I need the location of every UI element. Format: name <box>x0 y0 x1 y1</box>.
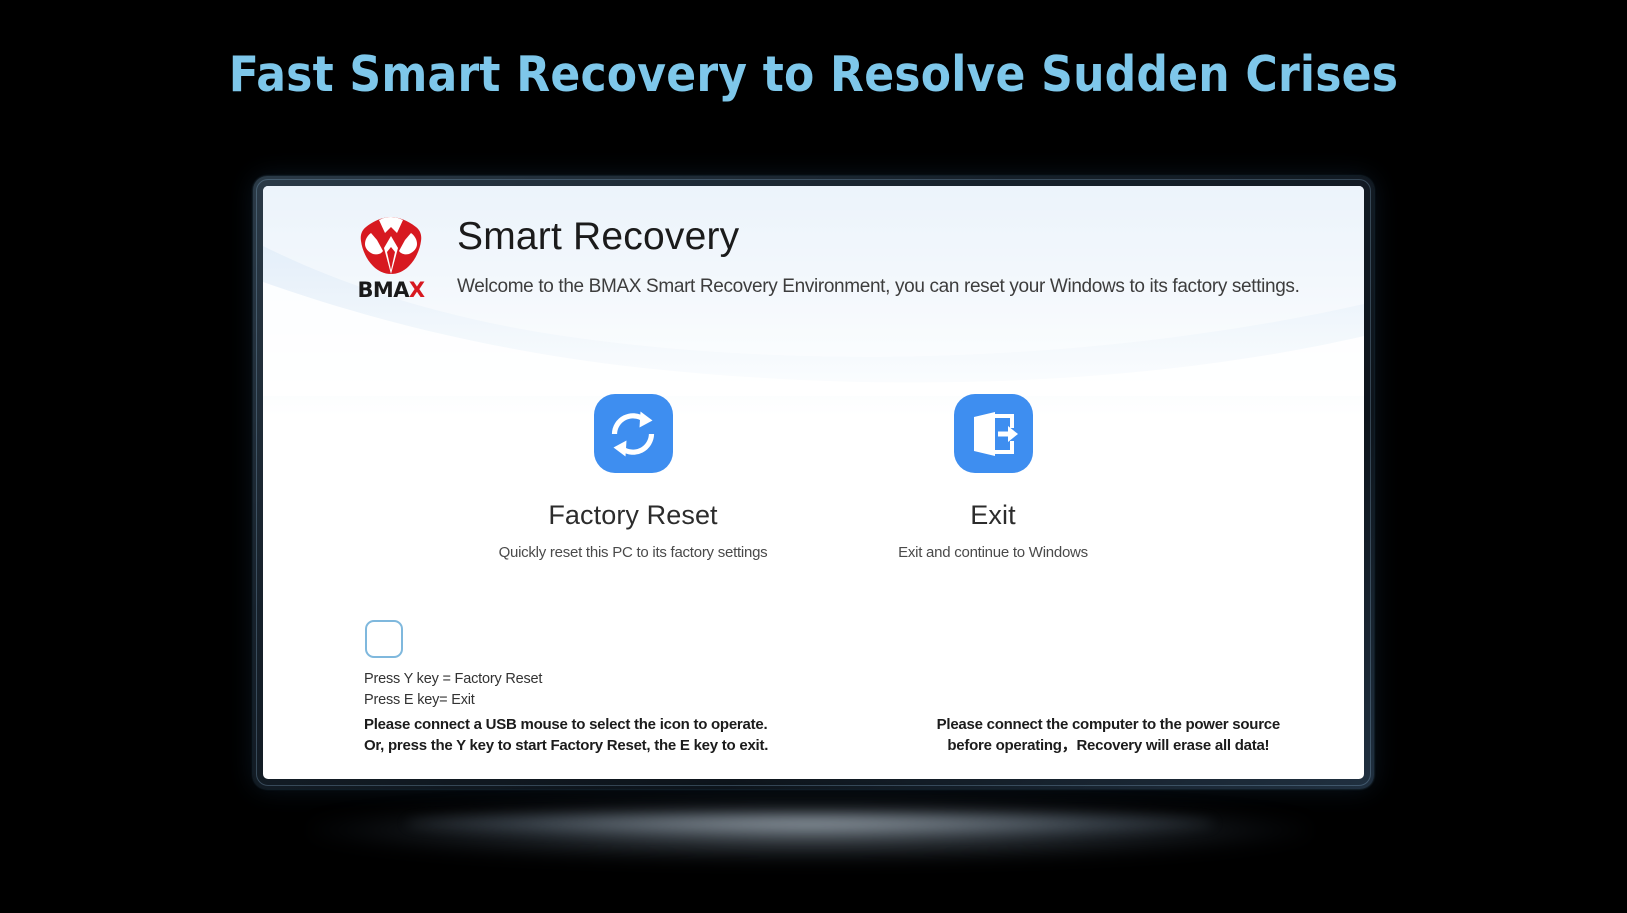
key-input-box[interactable] <box>365 620 403 658</box>
device-reflection-core <box>405 812 1215 834</box>
exit-label: Exit <box>970 500 1015 531</box>
exit-door-arrow-icon[interactable] <box>954 394 1033 473</box>
refresh-circular-arrows-icon[interactable] <box>594 394 673 473</box>
factory-reset-label: Factory Reset <box>548 500 717 531</box>
key-hint-factory-reset: Press Y key = Factory Reset <box>364 669 542 690</box>
page-headline: Fast Smart Recovery to Resolve Sudden Cr… <box>0 46 1627 103</box>
factory-reset-description: Quickly reset this PC to its factory set… <box>499 544 768 561</box>
footer-left-line-1: Please connect a USB mouse to select the… <box>364 714 768 735</box>
action-tiles: Factory Reset Quickly reset this PC to i… <box>263 394 1364 561</box>
app-screen: BMAX Smart Recovery Welcome to the BMAX … <box>263 186 1364 779</box>
factory-reset-tile[interactable]: Factory Reset Quickly reset this PC to i… <box>453 394 813 561</box>
footer-right-line-2: before operating，Recovery will erase all… <box>937 735 1280 756</box>
footer-right-line-1: Please connect the computer to the power… <box>937 714 1280 735</box>
bmax-mask-logo-icon <box>357 214 425 276</box>
footer-notice-right: Please connect the computer to the power… <box>937 714 1280 757</box>
footer-notice-left: Please connect a USB mouse to select the… <box>364 714 768 757</box>
header-text-block: Smart Recovery Welcome to the BMAX Smart… <box>457 212 1300 298</box>
bmax-wordmark: BMAX <box>358 278 425 302</box>
app-header: BMAX Smart Recovery Welcome to the BMAX … <box>263 186 1364 336</box>
app-subtitle: Welcome to the BMAX Smart Recovery Envir… <box>457 276 1300 298</box>
bmax-logo: BMAX <box>349 214 433 302</box>
exit-description: Exit and continue to Windows <box>898 544 1088 561</box>
app-title: Smart Recovery <box>457 216 1300 259</box>
key-hints: Press Y key = Factory Reset Press E key=… <box>364 669 542 710</box>
footer-left-line-2: Or, press the Y key to start Factory Res… <box>364 735 768 756</box>
page-root: Fast Smart Recovery to Resolve Sudden Cr… <box>0 0 1627 913</box>
exit-tile[interactable]: Exit Exit and continue to Windows <box>813 394 1173 561</box>
laptop-bezel: BMAX Smart Recovery Welcome to the BMAX … <box>253 176 1374 789</box>
key-hint-exit: Press E key= Exit <box>364 690 542 711</box>
